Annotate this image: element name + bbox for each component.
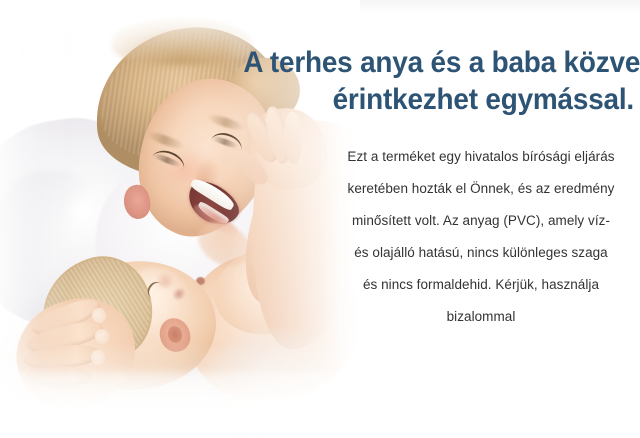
headline-line-1: A terhes anya és a baba közvetlenül <box>243 44 634 81</box>
body-line-6: bizalommal <box>340 301 622 333</box>
sheet-foreground <box>0 372 360 438</box>
body-copy: Ezt a terméket egy hivatalos bírósági el… <box>340 141 622 333</box>
headline-line-2: érintkezhet egymással. <box>243 81 634 118</box>
body-line-1: Ezt a terméket egy hivatalos bírósági el… <box>340 141 622 173</box>
body-line-4: és olajálló hatású, nincs különleges sza… <box>340 237 622 269</box>
baby-nose <box>156 272 174 288</box>
body-line-2: keretében hozták el Önnek, és az eredmén… <box>340 173 622 205</box>
mother-hair-wisp <box>112 18 252 66</box>
promo-banner: A terhes anya és a baba közvetlenül érin… <box>0 0 640 438</box>
body-line-3: minősített volt. Az anyag (PVC), amely v… <box>340 205 622 237</box>
body-line-5: és nincs formaldehid. Kérjük, használja <box>340 269 622 301</box>
headline: A terhes anya és a baba közvetlenül érin… <box>243 44 634 118</box>
